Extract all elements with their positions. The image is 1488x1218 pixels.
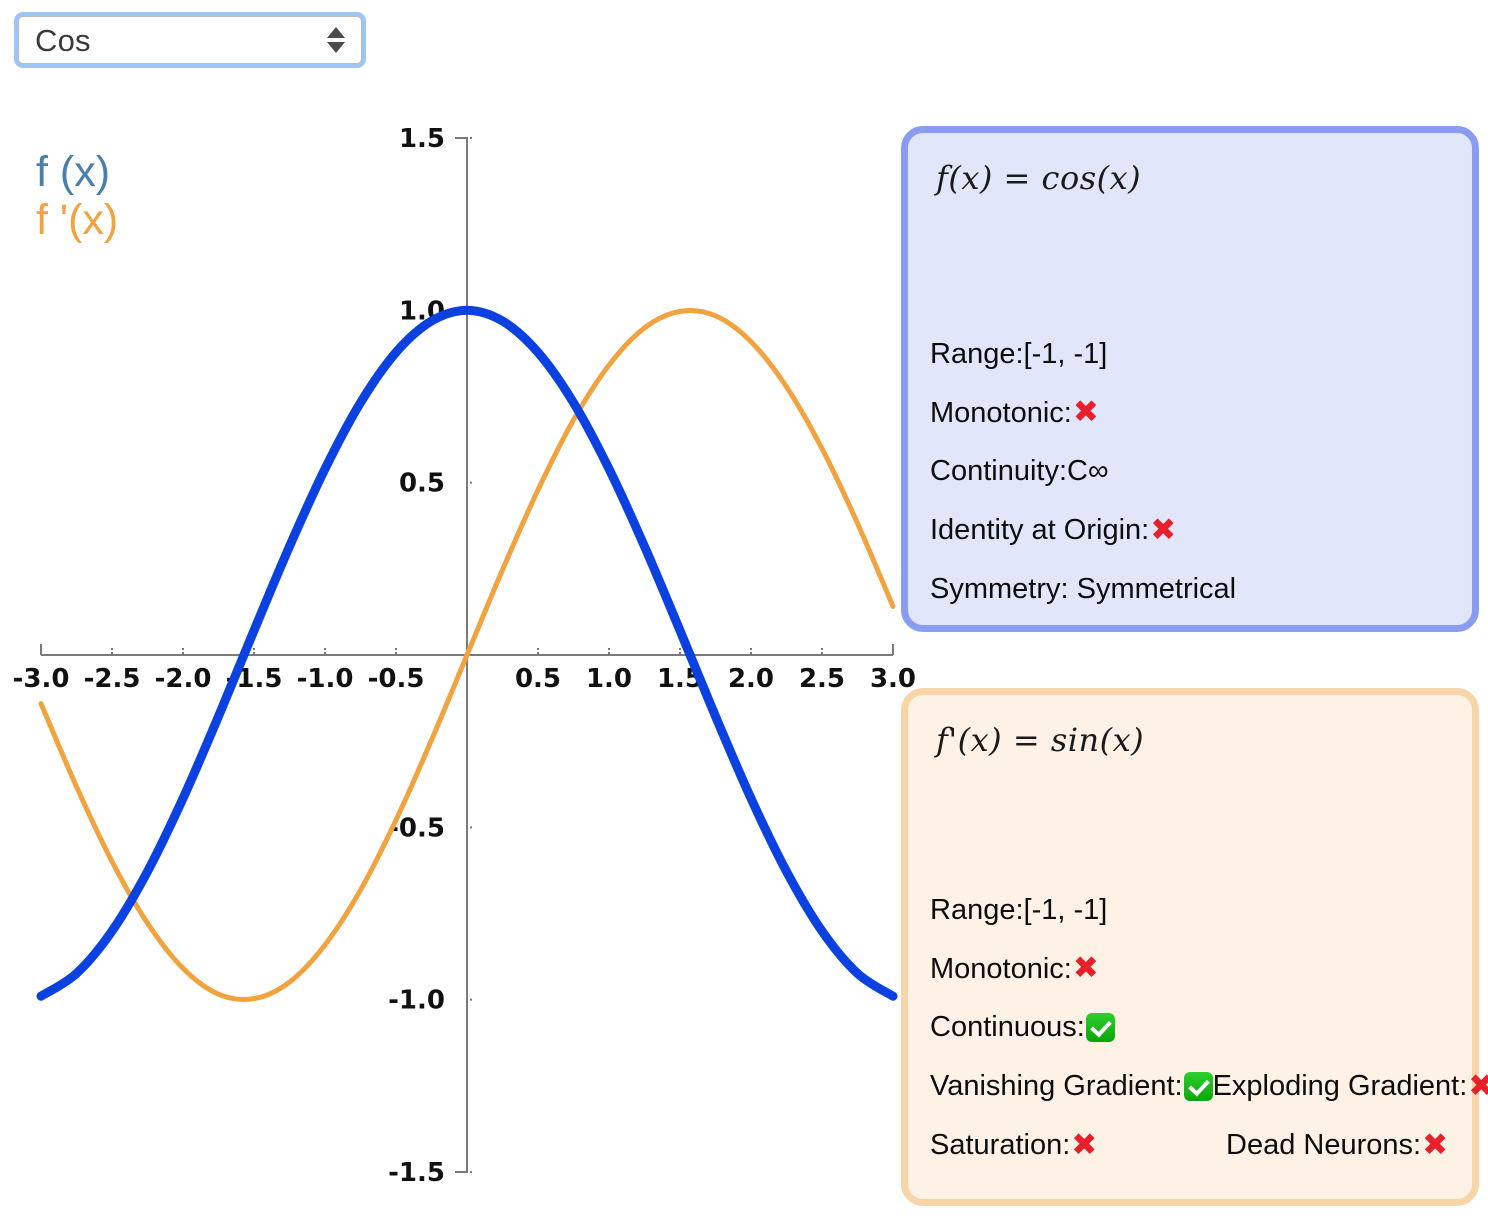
property-label: Exploding Gradient: — [1213, 1071, 1468, 1101]
property-item: Saturation:✖ — [930, 1130, 1226, 1161]
function-select-focus-ring: Cos — [14, 12, 366, 68]
x-tick-label: -2.5 — [84, 664, 141, 694]
x-tick-label: 2.0 — [728, 664, 774, 694]
x-tick-label: -3.0 — [13, 664, 70, 694]
property-label: Identity at Origin: — [930, 515, 1149, 545]
property-item: Continuity:C∞ — [930, 456, 1109, 486]
property-item: Identity at Origin:✖ — [930, 515, 1176, 546]
y-tick-label: -1.0 — [388, 986, 445, 1016]
property-label: Dead Neurons: — [1226, 1130, 1421, 1160]
property-label: Symmetry: Symmetrical — [930, 574, 1236, 604]
property-row: Symmetry: Symmetrical — [930, 574, 1454, 604]
property-item: Range:[-1, -1] — [930, 339, 1107, 369]
check-mark-icon — [1184, 1072, 1213, 1101]
plot-canvas: -3.0-2.5-2.0-1.5-1.0-0.50.51.01.52.02.53… — [0, 100, 930, 1210]
property-item: Vanishing Gradient: — [930, 1071, 1213, 1101]
property-label: Saturation: — [930, 1130, 1070, 1160]
property-item: Monotonic:✖ — [930, 397, 1099, 428]
function-plot: -3.0-2.5-2.0-1.5-1.0-0.50.51.01.52.02.53… — [0, 100, 930, 1210]
property-item: Monotonic:✖ — [930, 953, 1099, 984]
cross-mark-icon: ✖ — [1071, 1130, 1097, 1161]
x-tick-label: -0.5 — [368, 664, 425, 694]
property-row: Monotonic:✖ — [930, 397, 1454, 428]
function-info-panel: f(x) = cos(x) Range:[-1, -1]Monotonic:✖C… — [901, 126, 1479, 632]
function-formula: f(x) = cos(x) — [936, 159, 1450, 197]
property-item: Dead Neurons:✖ — [1226, 1130, 1448, 1161]
check-mark-icon — [1086, 1013, 1115, 1042]
cross-mark-icon: ✖ — [1073, 397, 1099, 428]
property-label: Range:[-1, -1] — [930, 895, 1107, 925]
property-row: Continuous: — [930, 1012, 1454, 1042]
derivative-property-list: Range:[-1, -1]Monotonic:✖Continuous:Vani… — [930, 895, 1454, 1189]
property-item: Continuous: — [930, 1012, 1115, 1042]
property-label: Range:[-1, -1] — [930, 339, 1107, 369]
y-tick-label: 0.5 — [399, 469, 445, 499]
function-select-value: Cos — [19, 25, 91, 56]
x-tick-label: 0.5 — [515, 664, 561, 694]
property-item: Exploding Gradient:✖ — [1213, 1071, 1488, 1102]
property-row: Monotonic:✖ — [930, 953, 1454, 984]
x-tick-label: 1.0 — [586, 664, 632, 694]
property-row: Range:[-1, -1] — [930, 895, 1454, 925]
property-label: Continuity:C∞ — [930, 456, 1109, 486]
triangle-up-icon[interactable] — [327, 27, 345, 38]
derivative-info-panel: f'(x) = sin(x) Range:[-1, -1]Monotonic:✖… — [901, 688, 1479, 1206]
property-row: Vanishing Gradient:Exploding Gradient:✖ — [930, 1071, 1454, 1102]
function-select-stepper[interactable] — [327, 27, 345, 53]
property-label: Monotonic: — [930, 954, 1072, 984]
cross-mark-icon: ✖ — [1468, 1071, 1488, 1102]
cross-mark-icon: ✖ — [1073, 953, 1099, 984]
x-tick-label: 2.5 — [799, 664, 845, 694]
property-row: Identity at Origin:✖ — [930, 515, 1454, 546]
function-property-list: Range:[-1, -1]Monotonic:✖Continuity:C∞Id… — [930, 339, 1454, 632]
x-tick-label: -2.0 — [155, 664, 212, 694]
property-label: Monotonic: — [930, 398, 1072, 428]
cross-mark-icon: ✖ — [1422, 1130, 1448, 1161]
property-label: Vanishing Gradient: — [930, 1071, 1183, 1101]
function-select[interactable]: Cos — [18, 16, 362, 64]
x-tick-label: -1.0 — [297, 664, 354, 694]
property-row: Continuity:C∞ — [930, 456, 1454, 486]
x-tick-label: 3.0 — [870, 664, 916, 694]
property-item: Symmetry: Symmetrical — [930, 574, 1236, 604]
property-item: Range:[-1, -1] — [930, 895, 1107, 925]
cross-mark-icon: ✖ — [1150, 515, 1176, 546]
triangle-down-icon[interactable] — [327, 42, 345, 53]
property-label: Continuous: — [930, 1012, 1085, 1042]
derivative-formula: f'(x) = sin(x) — [936, 721, 1450, 759]
y-tick-label: -1.5 — [388, 1158, 445, 1188]
y-tick-label: 1.5 — [399, 124, 445, 154]
property-row: Range:[-1, -1] — [930, 339, 1454, 369]
property-row: Saturation:✖Dead Neurons:✖ — [930, 1130, 1454, 1161]
